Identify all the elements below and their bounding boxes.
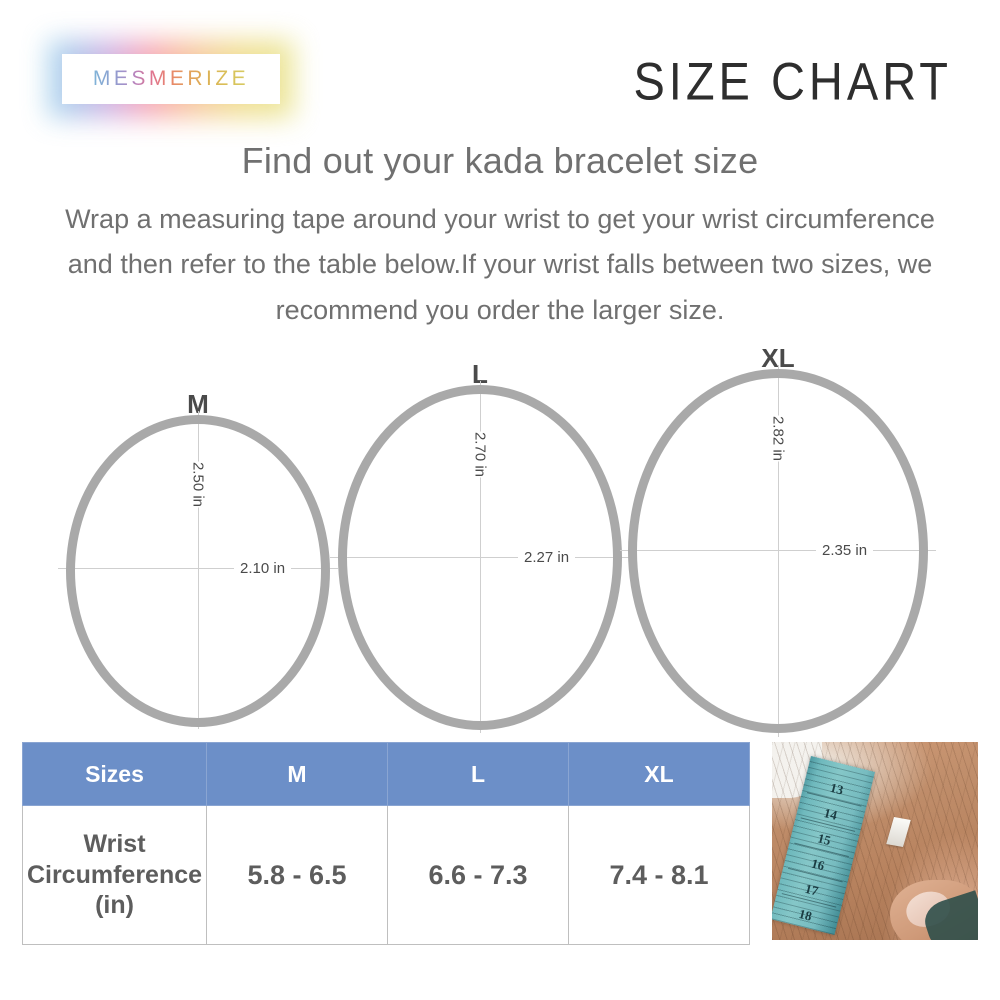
bracelet-height-label-l: 2.70 in: [467, 432, 494, 478]
cell-wrist-circumference-l: 6.6 - 7.3: [388, 806, 569, 945]
bracelet-height-label-xl: 2.82 in: [765, 416, 792, 462]
row-label-wrist-circumference: Wrist Circumference (in): [23, 806, 207, 945]
bracelet-diagram-l: L 2.70 in 2.27 in: [330, 345, 630, 740]
bracelet-diagram-xl: XL 2.82 in 2.35 in: [620, 345, 936, 740]
table-header-row: Sizes M L XL: [23, 743, 750, 806]
bracelet-diagrams: M 2.50 in 2.10 in L 2.70 in 2.27 in XL 2…: [0, 345, 1000, 740]
table-header-l: L: [388, 743, 569, 806]
bracelet-width-label-l: 2.27 in: [518, 550, 575, 565]
page-title: SIZE CHART: [633, 50, 952, 112]
bracelet-width-label-xl: 2.35 in: [816, 543, 873, 558]
intro-section: Find out your kada bracelet size Wrap a …: [0, 138, 1000, 333]
bracelet-height-label-m: 2.50 in: [185, 462, 212, 508]
table-row: Wrist Circumference (in) 5.8 - 6.5 6.6 -…: [23, 806, 750, 945]
wrist-measuring-photo: 13 14 15 16 17 18: [772, 742, 978, 940]
table-header-sizes: Sizes: [23, 743, 207, 806]
cell-wrist-circumference-xl: 7.4 - 8.1: [569, 806, 750, 945]
table-header-m: M: [207, 743, 388, 806]
size-table: Sizes M L XL Wrist Circumference (in) 5.…: [22, 742, 750, 945]
intro-body-text: Wrap a measuring tape around your wrist …: [46, 197, 954, 333]
brand-logo: MESMERIZE: [62, 54, 280, 104]
bracelet-diagram-m: M 2.50 in 2.10 in: [58, 345, 338, 735]
brand-logo-text: MESMERIZE: [93, 67, 249, 91]
table-header-xl: XL: [569, 743, 750, 806]
cell-wrist-circumference-m: 5.8 - 6.5: [207, 806, 388, 945]
bracelet-width-label-m: 2.10 in: [234, 561, 291, 576]
intro-heading: Find out your kada bracelet size: [0, 138, 1000, 183]
page-header: MESMERIZE SIZE CHART: [0, 0, 1000, 130]
